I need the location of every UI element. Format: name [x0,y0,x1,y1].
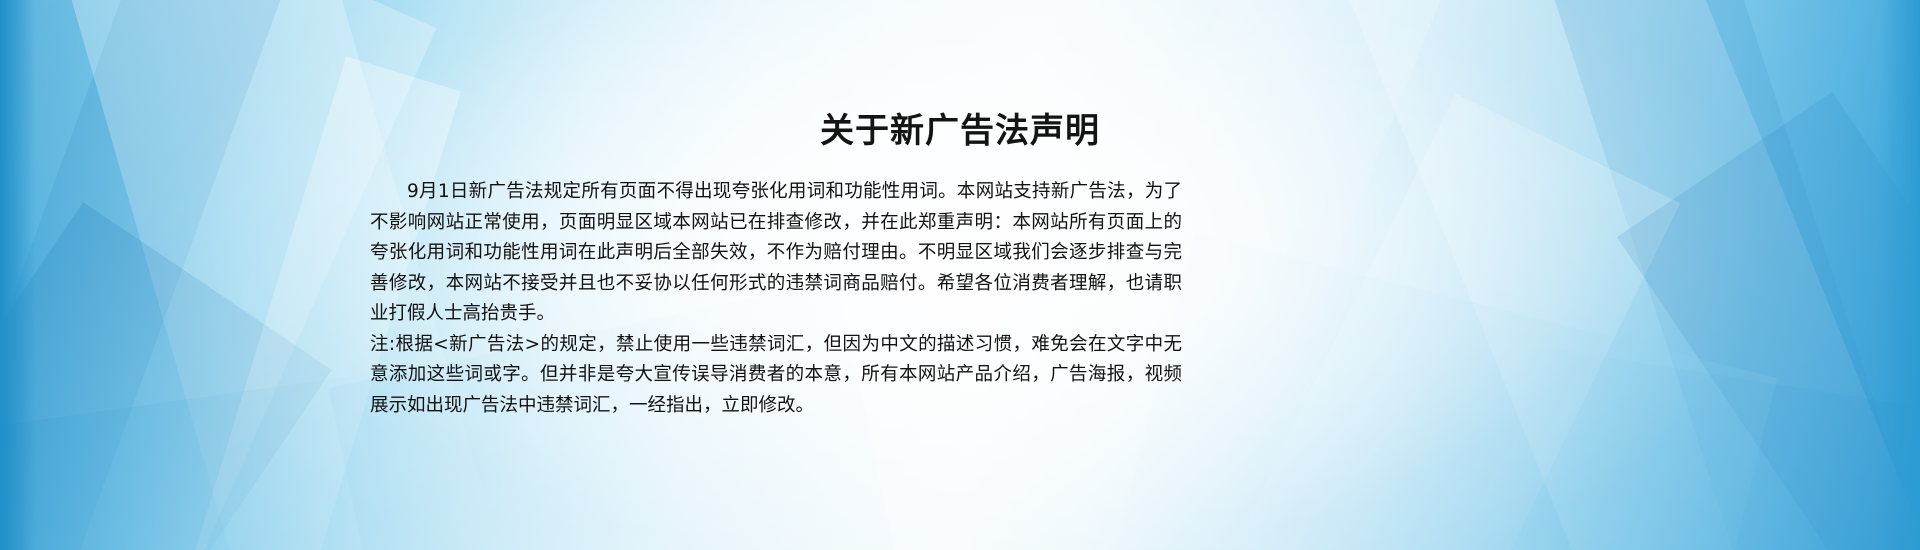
statement-body: 9月1日新广告法规定所有页面不得出现夸张化用词和功能性用词。本网站支持新广告法，… [370,177,1182,421]
statement-paragraph-1: 9月1日新广告法规定所有页面不得出现夸张化用词和功能性用词。本网站支持新广告法，… [370,177,1182,330]
statement-content: 关于新广告法声明 9月1日新广告法规定所有页面不得出现夸张化用词和功能性用词。本… [0,0,1920,550]
advertising-law-statement-banner: 关于新广告法声明 9月1日新广告法规定所有页面不得出现夸张化用词和功能性用词。本… [0,0,1920,550]
statement-paragraph-2: 注:根据<新广告法>的规定，禁止使用一些违禁词汇，但因为中文的描述习惯，难免会在… [370,330,1182,422]
page-title: 关于新广告法声明 [0,109,1920,153]
